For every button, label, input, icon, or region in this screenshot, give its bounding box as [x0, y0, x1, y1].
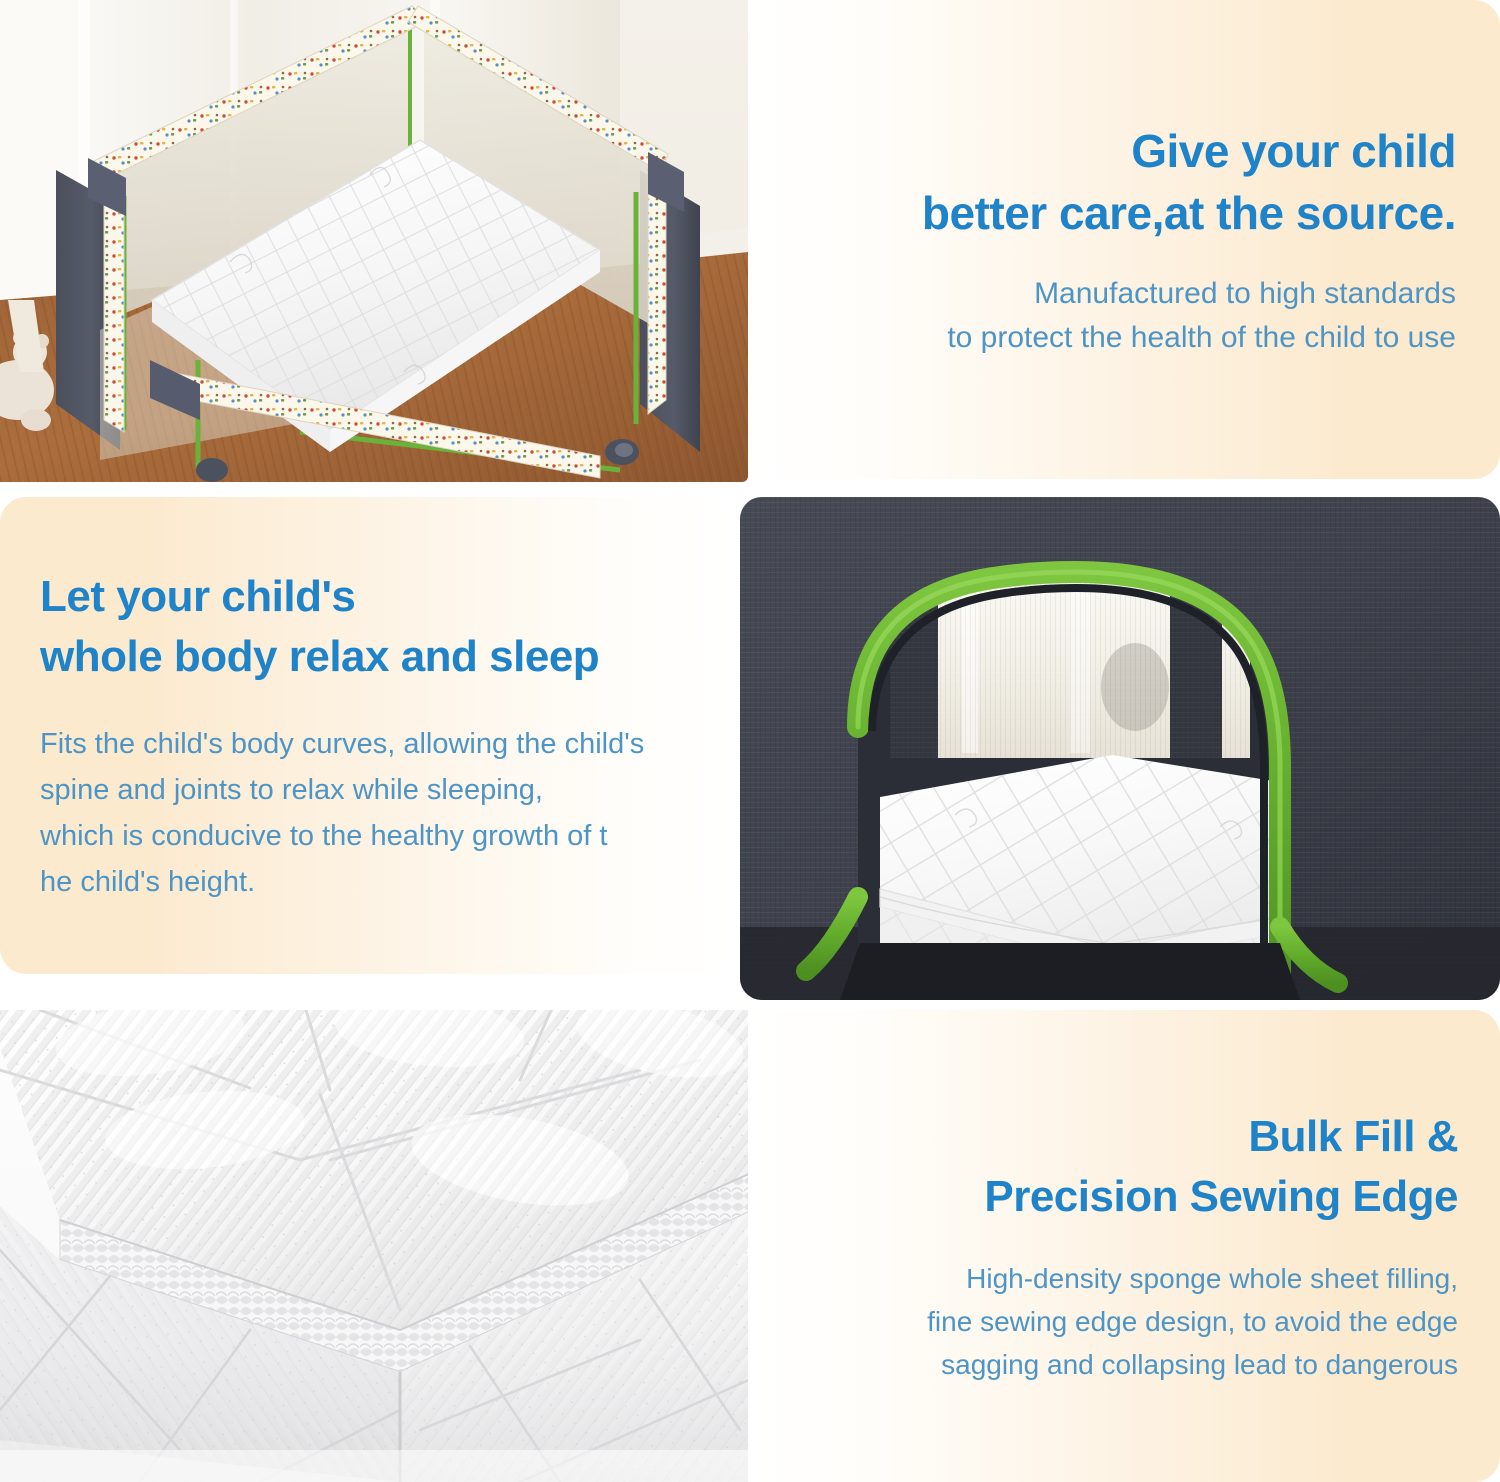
section-1-heading: Give your child better care,at the sourc… — [748, 120, 1456, 244]
section-3-body: High-density sponge whole sheet filling,… — [750, 1257, 1458, 1386]
section-2-heading: Let your child's whole body relax and sl… — [40, 567, 735, 687]
section-1-body: Manufactured to high standards to protec… — [748, 272, 1456, 360]
infographic-canvas: Give your child better care,at the sourc… — [0, 0, 1500, 1482]
playard-green-zipper-door-mattress-image — [740, 497, 1500, 1000]
playard-with-mattress-on-wood-floor-image — [0, 0, 748, 482]
playard-door-illustration — [740, 497, 1500, 1000]
mattress-corner-sewn-edge-closeup-image — [0, 1010, 748, 1482]
section-2-body: Fits the child's body curves, allowing t… — [40, 721, 735, 905]
section-3-heading: Bulk Fill & Precision Sewing Edge — [750, 1107, 1458, 1227]
section-whole-body-relax: Let your child's whole body relax and sl… — [0, 497, 735, 974]
section-give-better-care: Give your child better care,at the sourc… — [748, 0, 1500, 479]
section-bulk-fill-sewing-edge: Bulk Fill & Precision Sewing Edge High-d… — [750, 1010, 1500, 1482]
playard-room-illustration — [0, 0, 748, 482]
mattress-corner-illustration — [0, 1010, 748, 1482]
